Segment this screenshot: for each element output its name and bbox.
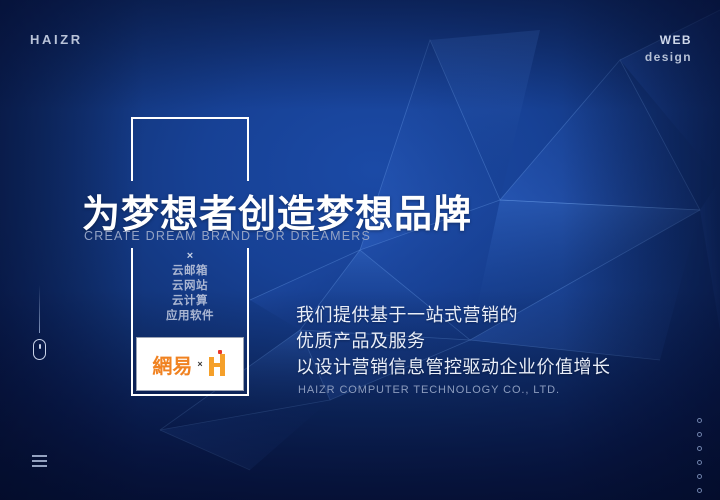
pagination-dot[interactable] xyxy=(697,418,702,423)
frame-left-edge-upper xyxy=(131,117,133,181)
frame-bottom-edge xyxy=(131,394,249,396)
pagination-dot[interactable] xyxy=(697,446,702,451)
body-copy: 我们提供基于一站式营销的 优质产品及服务 以设计营销信息管控驱动企业价值增长 xyxy=(296,302,611,380)
corner-label: WEB design xyxy=(645,32,692,67)
pagination-dot[interactable] xyxy=(697,474,702,479)
body-copy-line-2: 优质产品及服务 xyxy=(296,328,611,354)
service-list: 云邮箱 云网站 云计算 应用软件 xyxy=(131,264,249,324)
netease-wordmark: 網易 xyxy=(152,350,192,379)
corner-label-line2: design xyxy=(645,49,692,66)
service-item-cloud-site[interactable]: 云网站 xyxy=(131,279,249,294)
pagination-dot[interactable] xyxy=(697,460,702,465)
frame-right-edge-upper xyxy=(247,117,249,181)
mouse-scroll-icon[interactable] xyxy=(33,339,46,360)
corner-label-line1: WEB xyxy=(645,32,692,49)
hero-slide: HAIZR WEB design 为梦想者创造梦想品牌 CREATE DREAM… xyxy=(0,0,720,500)
partner-logo-box[interactable]: 網易 × xyxy=(136,337,244,391)
frame-top-edge xyxy=(131,117,249,119)
service-item-cloud-computing[interactable]: 云计算 xyxy=(131,294,249,309)
hamburger-bar-3 xyxy=(32,465,47,467)
hamburger-menu-icon[interactable] xyxy=(32,455,47,467)
body-copy-line-3: 以设计营销信息管控驱动企业价值增长 xyxy=(296,354,611,380)
pagination-dot[interactable] xyxy=(697,488,702,493)
company-name-en: HAIZR COMPUTER TECHNOLOGY CO., LTD. xyxy=(298,384,560,396)
background-vignette xyxy=(0,0,720,500)
service-item-app-software[interactable]: 应用软件 xyxy=(131,309,249,324)
mouse-wheel-dot xyxy=(39,344,41,349)
service-item-cloud-mail[interactable]: 云邮箱 xyxy=(131,264,249,279)
brand-logo[interactable]: HAIZR xyxy=(30,32,83,47)
slide-pagination[interactable] xyxy=(697,418,702,500)
partner-separator-icon: × xyxy=(197,359,202,369)
haizr-h-mark-icon xyxy=(208,352,228,376)
hero-subheadline: CREATE DREAM BRAND FOR DREAMERS xyxy=(84,229,371,243)
pagination-dot[interactable] xyxy=(697,432,702,437)
scroll-rail-line xyxy=(39,285,40,333)
h-mark-right-stem xyxy=(220,354,225,376)
service-separator-icon: × xyxy=(182,250,198,262)
hamburger-bar-1 xyxy=(32,455,47,457)
body-copy-line-1: 我们提供基于一站式营销的 xyxy=(296,302,611,328)
hamburger-bar-2 xyxy=(32,460,47,462)
